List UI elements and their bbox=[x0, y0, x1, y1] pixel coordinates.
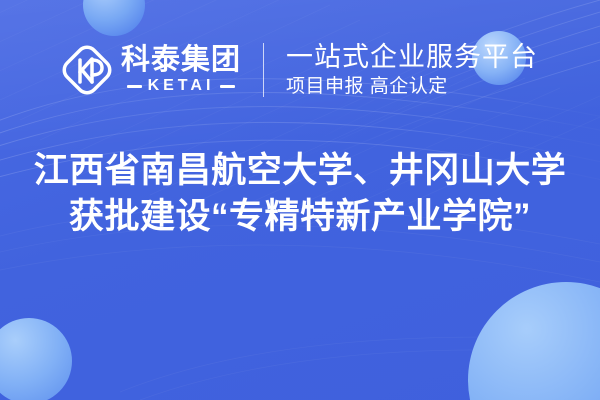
headline-line-1: 江西省南昌航空大学、井冈山大学 bbox=[16, 148, 584, 194]
decorative-orb-bottom-left bbox=[0, 318, 72, 400]
decorative-orb-bottom-right bbox=[468, 282, 600, 400]
headline-line-2: 获批建设“专精特新产业学院” bbox=[16, 194, 584, 240]
brand-name-en: KETAI bbox=[148, 78, 215, 94]
wordmark-dash-left-icon bbox=[127, 85, 142, 88]
promo-banner: 科泰集团 KETAI 一站式企业服务平台 项目申报 高企认定 江西省南昌航空大学… bbox=[0, 0, 600, 400]
brand-name-cn: 科泰集团 bbox=[121, 46, 241, 75]
brand-name-en-row: KETAI bbox=[121, 78, 241, 94]
brand-logo[interactable]: 科泰集团 KETAI bbox=[62, 45, 263, 95]
wordmark-dash-right-icon bbox=[220, 85, 235, 88]
banner-header: 科泰集团 KETAI 一站式企业服务平台 项目申报 高企认定 bbox=[0, 0, 600, 140]
brand-tagline: 一站式企业服务平台 项目申报 高企认定 bbox=[264, 43, 538, 96]
tagline-secondary: 项目申报 高企认定 bbox=[286, 77, 538, 97]
ketai-monogram-logo-icon bbox=[62, 45, 112, 95]
header-inner: 科泰集团 KETAI 一站式企业服务平台 项目申报 高企认定 bbox=[62, 43, 538, 97]
headline: 江西省南昌航空大学、井冈山大学 获批建设“专精特新产业学院” bbox=[0, 148, 600, 240]
tagline-primary: 一站式企业服务平台 bbox=[286, 43, 538, 71]
brand-wordmark: 科泰集团 KETAI bbox=[121, 46, 241, 94]
